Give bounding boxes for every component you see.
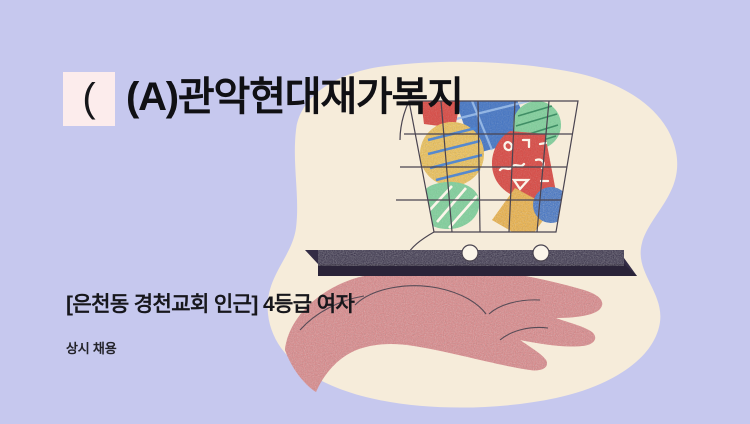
page-title: (A)관악현대재가복지 <box>126 74 463 121</box>
shopping-cart-on-hand-illustration <box>0 0 750 424</box>
logo-glyph: ( <box>82 78 95 118</box>
job-posting-poster: ( (A)관악현대재가복지 [은천동 경천교회 인근] 4등급 여자 상시 채용 <box>0 0 750 424</box>
item-circle-yellow-striped <box>420 122 484 186</box>
job-location-subtitle: [은천동 경천교회 인근] 4등급 여자 <box>66 292 354 318</box>
company-logo-badge: ( <box>63 72 115 126</box>
recruitment-status-label: 상시 채용 <box>66 341 116 358</box>
